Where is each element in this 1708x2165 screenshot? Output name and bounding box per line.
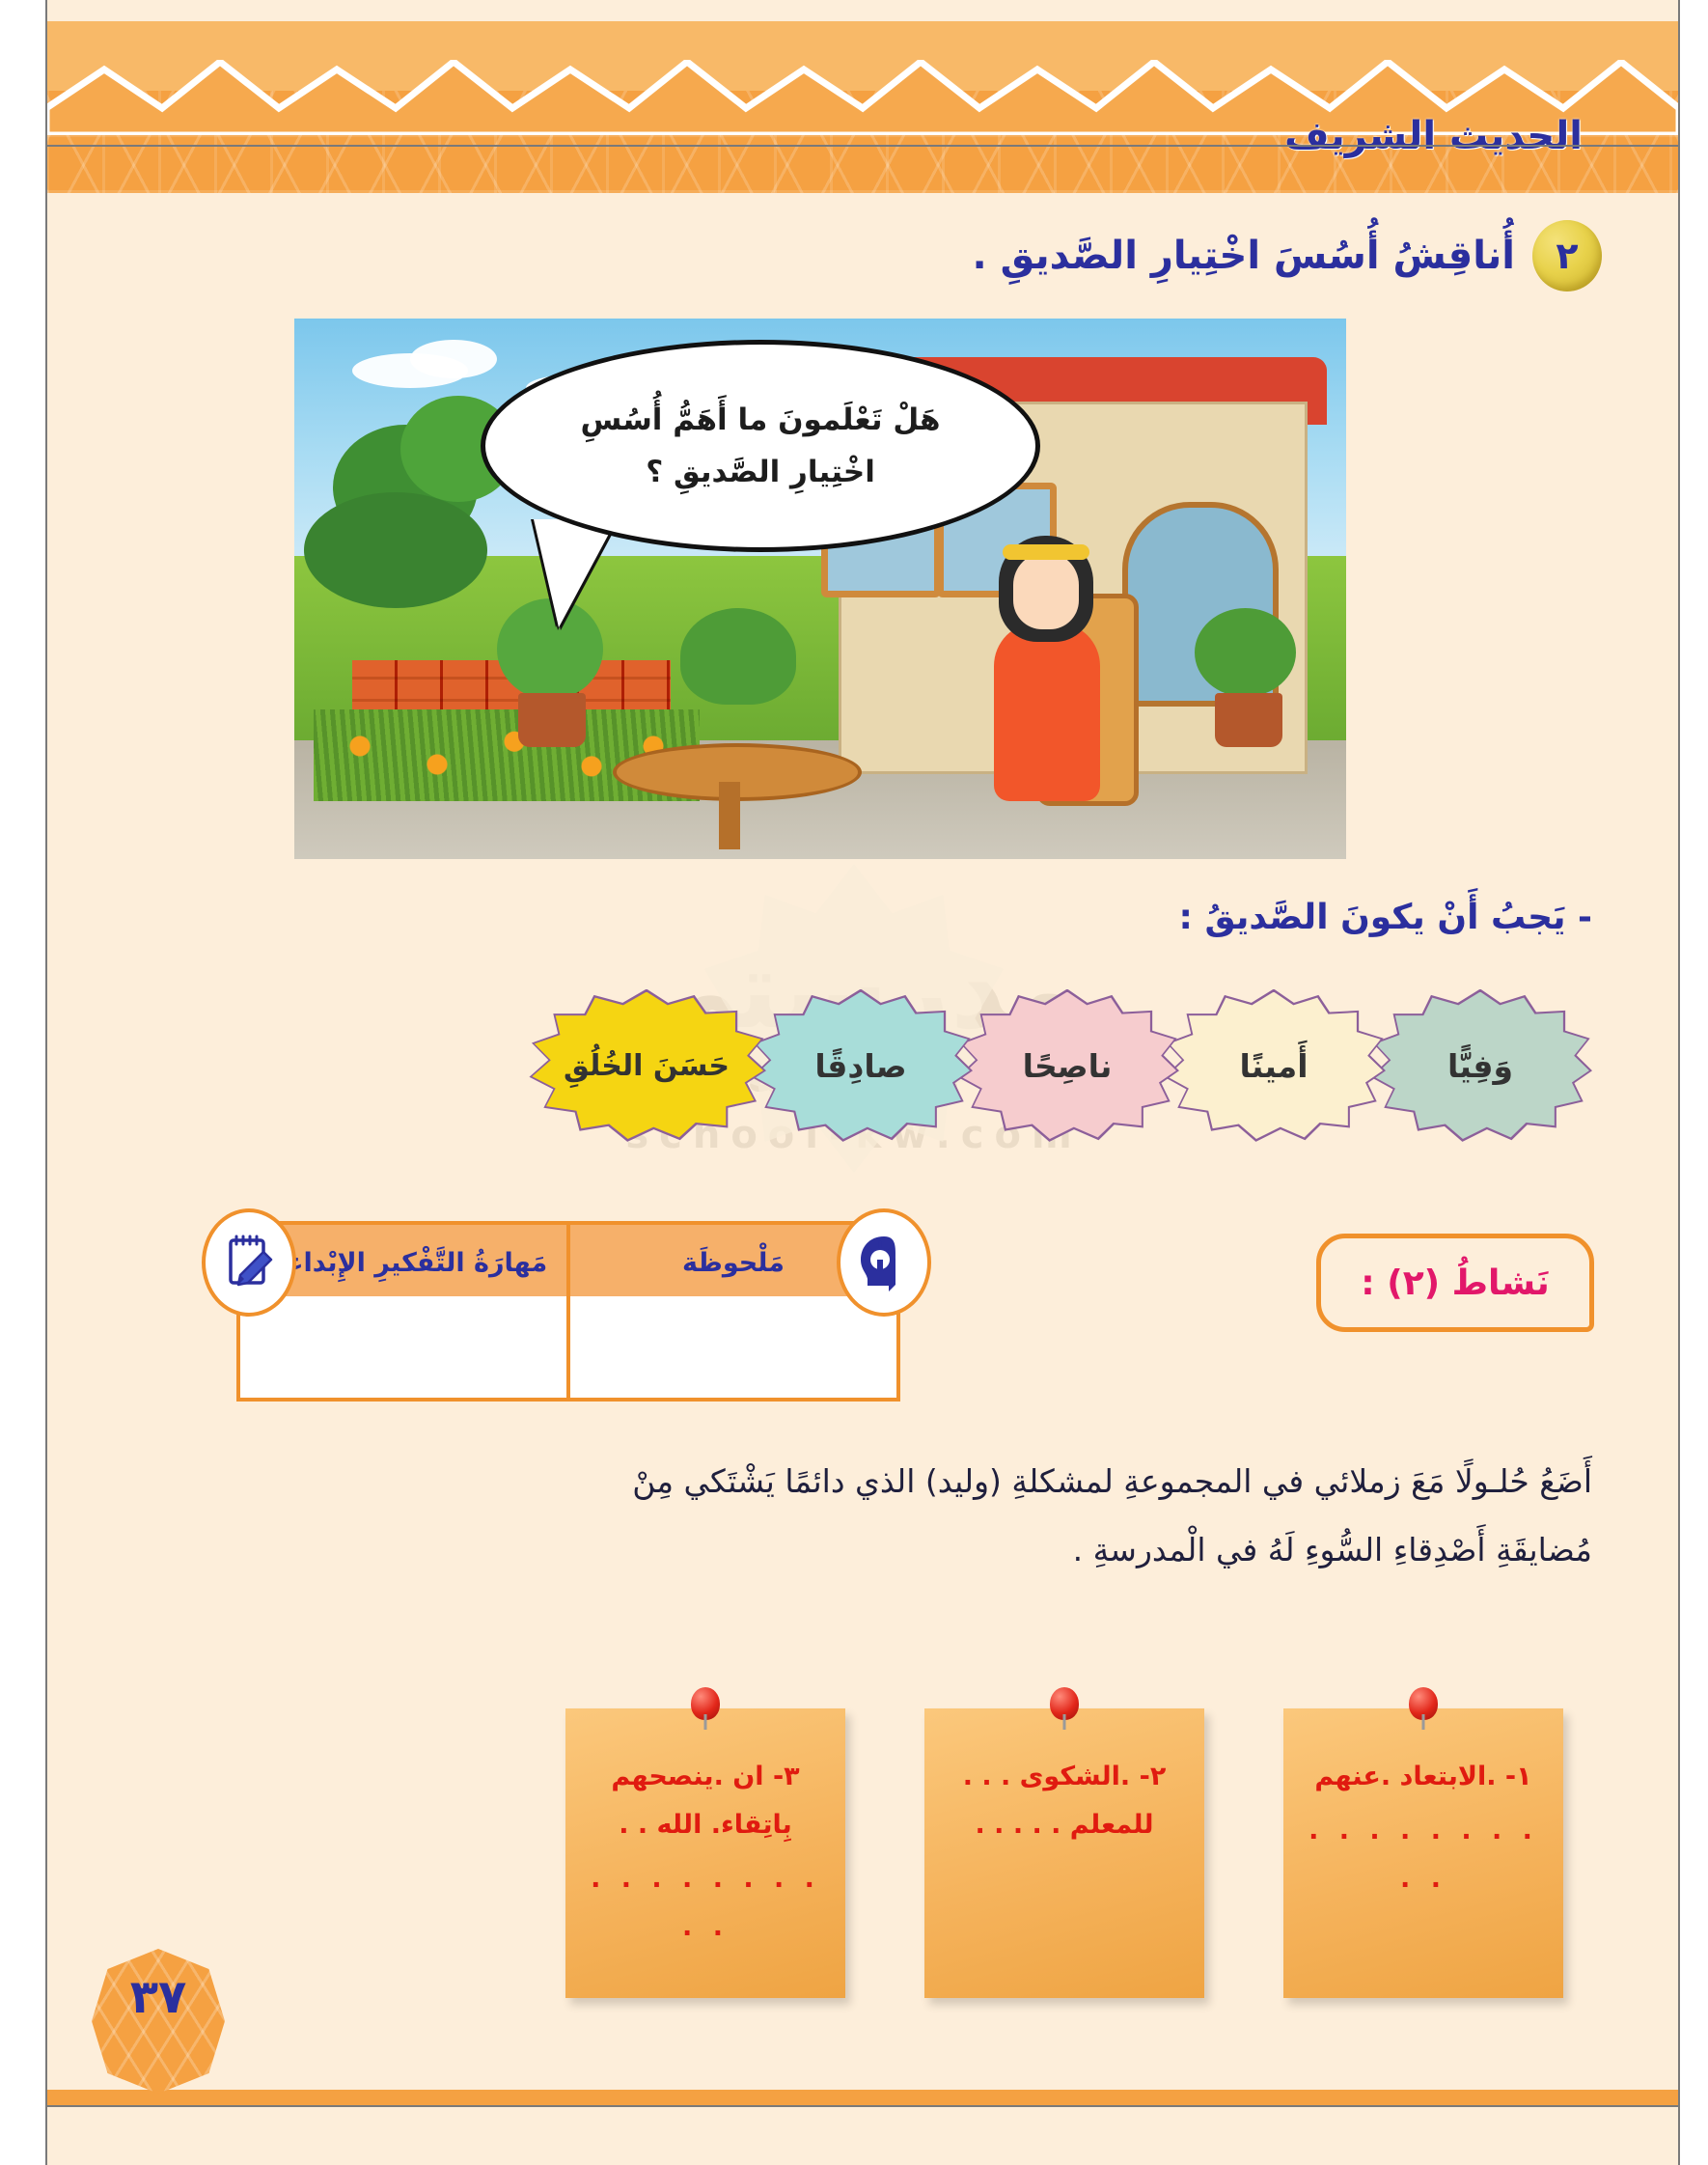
page-number: ٣٧	[130, 1970, 187, 2024]
quality-badge[interactable]: ناصِحًا	[955, 989, 1179, 1144]
question-number-badge: ٢	[1532, 220, 1602, 291]
page-margin-right	[1679, 0, 1708, 2165]
planter-pot	[1215, 693, 1282, 747]
pushpin-icon	[691, 1687, 720, 1720]
pushpin-icon	[1050, 1687, 1079, 1720]
note-text-line-2: بِاتِقاء. الله . .	[587, 1801, 824, 1849]
sticky-notes-row: ١- .الابتعاد .عنهم . . . . . . . . . . ٢…	[193, 1708, 1563, 2041]
frame-rule-bottom	[0, 2105, 1708, 2107]
skill-answer-creative-cell[interactable]	[240, 1296, 566, 1398]
creative-thinking-table: مَلْحوظَة مَهارَةُ التَّفْكيرِ الإِبْداع…	[207, 1221, 922, 1414]
girl-character-face	[1013, 552, 1079, 629]
note-number: ٣-	[773, 1762, 800, 1791]
note-dotted-line[interactable]: . . . . . . . . . .	[587, 1855, 824, 1952]
note-dotted-line[interactable]: . . . . . . . . . .	[1305, 1807, 1542, 1903]
note-text-line-2: للمعلم . . . . .	[946, 1801, 1183, 1849]
skill-table-divider	[566, 1296, 570, 1398]
speech-bubble-line-2: اخْتِيارِ الصَّديقِ ؟	[646, 446, 875, 498]
badge-label: ناصِحًا	[1023, 1047, 1113, 1085]
table-leg	[719, 782, 740, 849]
note-number: ١-	[1505, 1762, 1532, 1791]
activity-tab: نَشاطُ (٢) :	[1316, 1234, 1594, 1332]
frame-rule-left	[45, 0, 47, 2165]
quality-badges-row: وَفِيًّا أَمينًا ناصِحًا صادِقًا حَسَنَ …	[106, 986, 1592, 1146]
tree-icon	[304, 492, 487, 608]
page-number-medallion: ٣٧	[92, 1949, 225, 2094]
cloud-icon	[410, 340, 497, 378]
notebook-pencil-icon-svg	[221, 1231, 277, 1294]
activity-paragraph-line-2: مُضايقَةِ أَصْدِقاءِ السُّوءِ لَهُ في ال…	[101, 1516, 1592, 1585]
note-text-line-1: .الشكوى . . .	[963, 1762, 1130, 1791]
badge-label: صادِقًا	[814, 1047, 906, 1085]
skill-answer-note-cell[interactable]	[570, 1296, 896, 1398]
page-header-band: الحديث الشريف	[46, 21, 1679, 193]
palm-bush	[680, 608, 796, 705]
quality-badge[interactable]: صادِقًا	[749, 989, 973, 1144]
speech-bubble-line-1: هَلْ تَعْلَمونَ ما أَهَمُّ أُسُسِ	[581, 394, 941, 446]
palm-bush	[1195, 608, 1296, 697]
speech-bubble: هَلْ تَعْلَمونَ ما أَهَمُّ أُسُسِ اخْتِي…	[481, 340, 1040, 552]
girl-headband	[1003, 544, 1089, 560]
textbook-page: الحديث الشريف ٢ أُناقِشُ أُسُسَ اخْتِيار…	[0, 0, 1708, 2165]
skill-table-header-row: مَلْحوظَة مَهارَةُ التَّفْكيرِ الإِبْداع…	[236, 1221, 900, 1304]
sticky-note[interactable]: ١- .الابتعاد .عنهم . . . . . . . . . .	[1283, 1708, 1563, 1998]
must-be-line: - يَجبُ أَنْ يكونَ الصَّديقُ :	[1179, 898, 1592, 937]
note-number: ٢-	[1140, 1762, 1167, 1791]
girl-character-body	[994, 623, 1100, 801]
badge-label: أَمينًا	[1239, 1047, 1308, 1085]
scene-illustration: هَلْ تَعْلَمونَ ما أَهَمُّ أُسُسِ اخْتِي…	[294, 319, 1346, 859]
skill-table-divider	[566, 1225, 570, 1300]
note-text-line-1: ان .ينصحهم	[611, 1762, 763, 1791]
lightbulb-head-icon	[837, 1208, 931, 1317]
pushpin-icon	[1409, 1687, 1438, 1720]
note-text: .الابتعاد .عنهم	[1314, 1762, 1496, 1791]
quality-badge[interactable]: وَفِيًّا	[1368, 989, 1592, 1144]
planter-pot	[518, 693, 586, 747]
frame-rule-top	[0, 145, 1708, 147]
question-text: أُناقِشُ أُسُسَ اخْتِيارِ الصَّديقِ .	[972, 234, 1515, 278]
badge-label: حَسَنَ الخُلُقِ	[564, 1049, 730, 1083]
badge-label: وَفِيًّا	[1447, 1047, 1513, 1085]
skill-table-answer-row[interactable]	[236, 1296, 900, 1402]
page-margin-left	[0, 0, 46, 2165]
notebook-pencil-icon	[202, 1208, 296, 1317]
question-heading: ٢ أُناقِشُ أُسُسَ اخْتِيارِ الصَّديقِ .	[540, 220, 1602, 291]
activity-paragraph-line-1: أَضَعُ حُلـولًا مَعَ زملائي في المجموعةِ…	[101, 1448, 1592, 1516]
speech-bubble-tail	[534, 519, 617, 627]
frame-rule-right	[1678, 0, 1680, 2165]
sticky-note[interactable]: ٢- .الشكوى . . . للمعلم . . . . .	[924, 1708, 1204, 1998]
quality-badge[interactable]: أَمينًا	[1162, 989, 1386, 1144]
activity-paragraph: أَضَعُ حُلـولًا مَعَ زملائي في المجموعةِ…	[101, 1448, 1592, 1585]
sticky-note[interactable]: ٣- ان .ينصحهم بِاتِقاء. الله . . . . . .…	[565, 1708, 845, 1998]
chapter-title: الحديث الشريف	[1284, 114, 1583, 158]
quality-badge[interactable]: حَسَنَ الخُلُقِ	[527, 989, 766, 1144]
lightbulb-head-icon-svg	[856, 1231, 912, 1294]
